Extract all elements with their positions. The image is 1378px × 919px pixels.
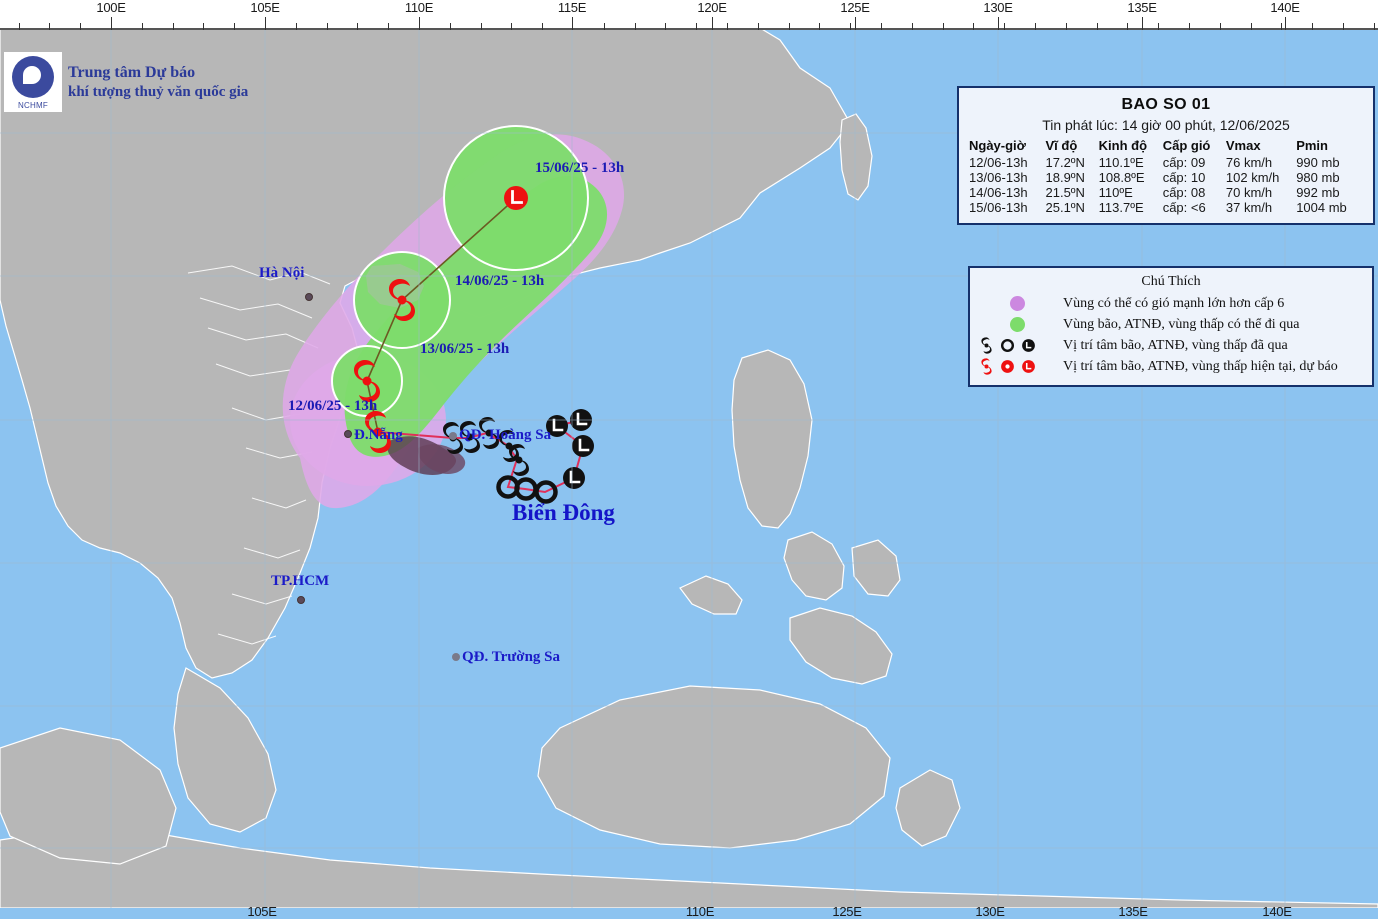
- axis-label-135E: 135E: [1127, 0, 1156, 15]
- cell-vmax: 102 km/h: [1226, 170, 1296, 185]
- cell-longitude: 108.8ºE: [1099, 170, 1163, 185]
- cell-windlevel: cấp: 08: [1163, 185, 1226, 200]
- forecast-low-15-06: [504, 186, 528, 210]
- storm-title: BAO SO 01: [969, 96, 1363, 114]
- cell-latitude: 25.1ºN: [1046, 200, 1099, 215]
- axis-label-120E: 120E: [697, 0, 726, 15]
- island-dot-hoang-sa: [449, 432, 457, 440]
- legend-item-current-position: Vị trí tâm bão, ATNĐ, vùng thấp hiện tại…: [978, 356, 1364, 377]
- legend-item-past-position: Vị trí tâm bão, ATNĐ, vùng thấp đã qua: [978, 335, 1364, 356]
- table-row: 15/06-13h 25.1ºN 113.7ºE cấp: <6 37 km/h…: [969, 200, 1363, 215]
- cell-pmin: 980 mb: [1296, 170, 1363, 185]
- nchmf-logo-icon: NCHMF: [4, 52, 62, 112]
- ring-icon-red: [999, 358, 1016, 375]
- axis-label-110E: 110E: [405, 0, 433, 15]
- cell-vmax: 37 km/h: [1226, 200, 1296, 215]
- cell-datetime: 15/06-13h: [969, 200, 1046, 215]
- cell-latitude: 18.9ºN: [1046, 170, 1099, 185]
- cell-windlevel: cấp: 10: [1163, 170, 1226, 185]
- agency-name-line1: Trung tâm Dự báo: [68, 63, 248, 83]
- cyclone-icon-black: [978, 337, 995, 354]
- axis-label-105E: 105E: [250, 0, 279, 15]
- cell-latitude: 21.5ºN: [1046, 185, 1099, 200]
- cell-pmin: 992 mb: [1296, 185, 1363, 200]
- cell-longitude: 110ºE: [1099, 185, 1163, 200]
- col-pmin: Pmin: [1296, 138, 1363, 155]
- legend-label-wind-zone: Vùng có thể có gió mạnh lớn hơn cấp 6: [1063, 296, 1284, 312]
- cell-windlevel: cấp: 09: [1163, 155, 1226, 170]
- city-dot-hanoi: [305, 293, 313, 301]
- col-windlevel: Cấp gió: [1163, 138, 1226, 155]
- legend-label-past-position: Vị trí tâm bão, ATNĐ, vùng thấp đã qua: [1063, 338, 1288, 354]
- agency-name-line2: khí tượng thuỷ văn quốc gia: [68, 83, 248, 102]
- low-pressure-icon-black: [1020, 337, 1037, 354]
- col-vmax: Vmax: [1226, 138, 1296, 155]
- table-row: 13/06-13h 18.9ºN 108.8ºE cấp: 10 102 km/…: [969, 170, 1363, 185]
- cell-datetime: 13/06-13h: [969, 170, 1046, 185]
- axis-label-115E: 115E: [558, 0, 586, 15]
- bulletin-time: Tin phát lúc: 14 giờ 00 phút, 12/06/2025: [969, 117, 1363, 133]
- legend-title: Chú Thích: [978, 274, 1364, 290]
- storm-info-panel: BAO SO 01 Tin phát lúc: 14 giờ 00 phút, …: [957, 86, 1375, 225]
- table-row: 14/06-13h 21.5ºN 110ºE cấp: 08 70 km/h 9…: [969, 185, 1363, 200]
- axis-label-100E: 100E: [96, 0, 125, 15]
- cell-vmax: 76 km/h: [1226, 155, 1296, 170]
- past-low-1: [563, 467, 585, 489]
- col-longitude: Kinh độ: [1099, 138, 1163, 155]
- city-dot-danang: [344, 430, 352, 438]
- legend-item-wind-zone: Vùng có thể có gió mạnh lớn hơn cấp 6: [978, 293, 1364, 314]
- cell-vmax: 70 km/h: [1226, 185, 1296, 200]
- cell-longitude: 113.7ºE: [1099, 200, 1163, 215]
- past-low-3: [546, 415, 568, 437]
- col-latitude: Vĩ độ: [1046, 138, 1099, 155]
- cyclone-icon-red: [978, 358, 995, 375]
- col-datetime: Ngày-giờ: [969, 138, 1046, 155]
- legend-label-storm-zone: Vùng bão, ATNĐ, vùng thấp có thể đi qua: [1063, 317, 1299, 333]
- map-screenshot: Biển Đông Hà Nội TP.HCM Đ.Nẵng QĐ. Hoàng…: [0, 0, 1378, 919]
- agency-name: Trung tâm Dự báo khí tượng thuỷ văn quốc…: [68, 63, 248, 102]
- agency-header: NCHMF Trung tâm Dự báo khí tượng thuỷ vă…: [4, 52, 248, 112]
- axis-label-130E: 130E: [983, 0, 1012, 15]
- logo-caption: NCHMF: [4, 101, 62, 110]
- cell-pmin: 1004 mb: [1296, 200, 1363, 215]
- cell-windlevel: cấp: <6: [1163, 200, 1226, 215]
- legend-swatch-purple: [978, 296, 1056, 311]
- cell-datetime: 12/06-13h: [969, 155, 1046, 170]
- axis-label-140E: 140E: [1270, 0, 1299, 15]
- forecast-table: Ngày-giờ Vĩ độ Kinh độ Cấp gió Vmax Pmin…: [969, 138, 1363, 215]
- city-dot-tphcm: [297, 596, 305, 604]
- cell-latitude: 17.2ºN: [1046, 155, 1099, 170]
- ring-icon-black: [999, 337, 1016, 354]
- longitude-axis-top: 100E105E110E115E120E125E130E135E140E: [0, 0, 1378, 30]
- forecast-table-header-row: Ngày-giờ Vĩ độ Kinh độ Cấp gió Vmax Pmin: [969, 138, 1363, 155]
- legend-swatch-current: [978, 358, 1056, 375]
- axis-label-125E: 125E: [840, 0, 869, 15]
- legend-swatch-past: [978, 337, 1056, 354]
- cell-longitude: 110.1ºE: [1099, 155, 1163, 170]
- legend-panel: Chú Thích Vùng có thể có gió mạnh lớn hơ…: [968, 266, 1374, 387]
- table-row: 12/06-13h 17.2ºN 110.1ºE cấp: 09 76 km/h…: [969, 155, 1363, 170]
- low-pressure-icon-red: [1020, 358, 1037, 375]
- island-dot-truong-sa: [452, 653, 460, 661]
- cell-datetime: 14/06-13h: [969, 185, 1046, 200]
- past-low-2: [572, 435, 594, 457]
- cell-pmin: 990 mb: [1296, 155, 1363, 170]
- legend-swatch-green: [978, 317, 1056, 332]
- legend-item-storm-zone: Vùng bão, ATNĐ, vùng thấp có thể đi qua: [978, 314, 1364, 335]
- legend-label-current-position: Vị trí tâm bão, ATNĐ, vùng thấp hiện tại…: [1063, 359, 1338, 375]
